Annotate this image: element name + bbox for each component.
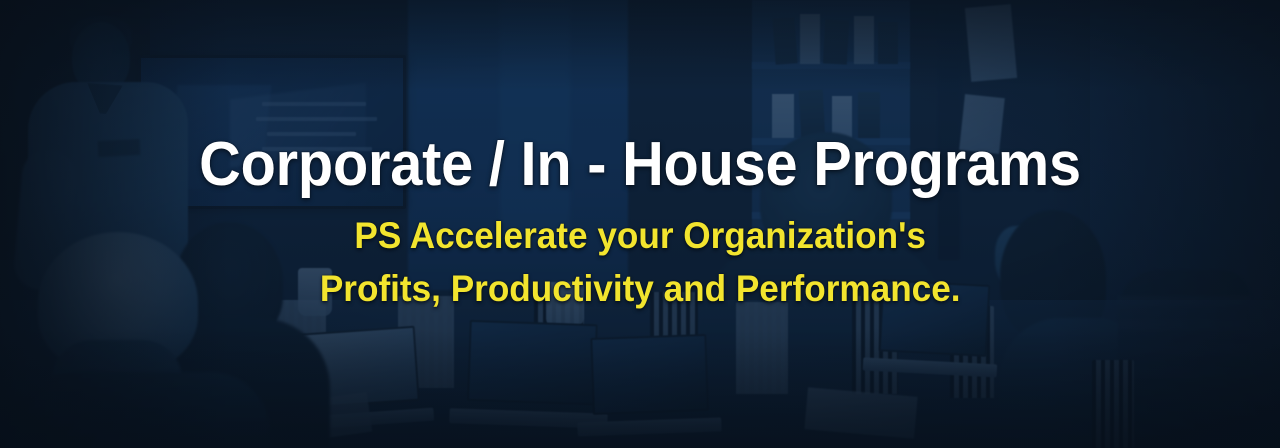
hero-subtitle: PS Accelerate your Organization's Profit… [320,210,961,315]
hero-banner: Corporate / In - House Programs PS Accel… [0,0,1280,448]
hero-content: Corporate / In - House Programs PS Accel… [0,0,1280,448]
hero-title: Corporate / In - House Programs [199,133,1081,196]
hero-subtitle-line-2: Profits, Productivity and Performance. [320,263,961,316]
hero-subtitle-line-1: PS Accelerate your Organization's [320,210,961,263]
